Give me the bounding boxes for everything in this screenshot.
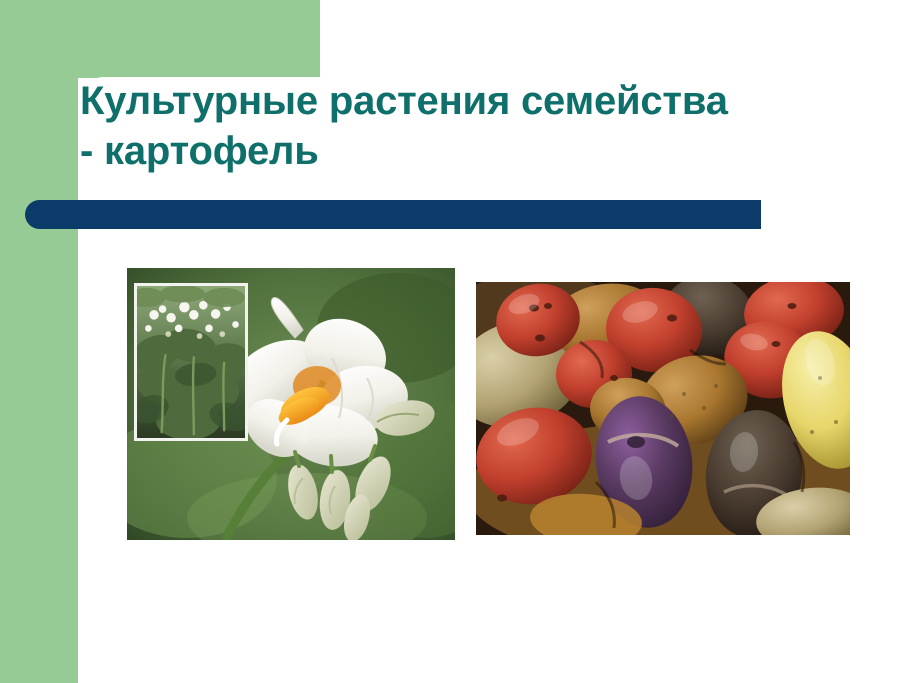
potato-field-inset-photo — [134, 283, 248, 441]
potato-flower-photo — [127, 268, 455, 540]
assorted-potatoes-photo — [476, 282, 850, 535]
presentation-slide: Культурные растения семейства - картофел… — [0, 0, 910, 683]
slide-title: Культурные растения семейства - картофел… — [80, 76, 880, 176]
potato-field-illustration — [137, 286, 245, 438]
assorted-potatoes-illustration — [476, 282, 850, 535]
blue-rule-bar — [25, 200, 761, 229]
green-left-strip — [0, 0, 78, 683]
